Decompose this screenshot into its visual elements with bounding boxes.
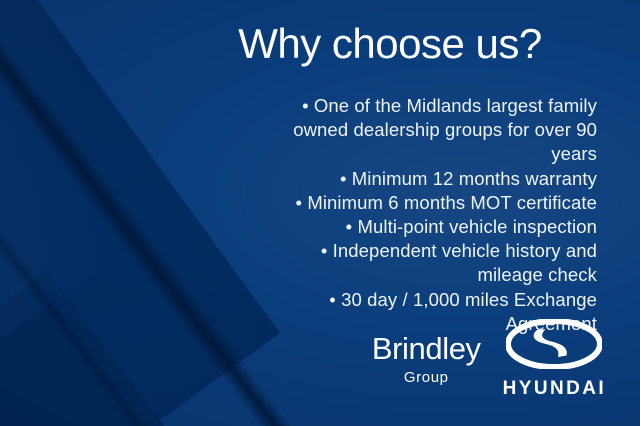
list-item: • Minimum 6 months MOT certificate <box>257 191 597 215</box>
brindley-group-logo: Brindley Group <box>372 333 481 385</box>
list-item: mileage check <box>257 263 597 287</box>
hyundai-wordmark: HYUNDAI <box>503 379 606 398</box>
list-item: • Minimum 12 months warranty <box>257 167 597 191</box>
benefits-list: • One of the Midlands largest family own… <box>257 94 597 336</box>
page-title: Why choose us? <box>180 20 600 68</box>
list-item: • Independent vehicle history and <box>257 239 597 263</box>
list-item: owned dealership groups for over 90 year… <box>257 118 597 166</box>
hyundai-logo: HYUNDAI <box>503 319 606 398</box>
logo-row: Brindley Group <box>372 319 606 398</box>
promo-slide: Why choose us? • One of the Midlands lar… <box>0 0 640 426</box>
brindley-wordmark: Brindley <box>372 333 481 364</box>
list-item: • Multi-point vehicle inspection <box>257 215 597 239</box>
slide-content: Why choose us? • One of the Midlands lar… <box>0 0 640 426</box>
list-item: • One of the Midlands largest family <box>257 94 597 118</box>
list-item: • 30 day / 1,000 miles Exchange <box>257 288 597 312</box>
hyundai-oval-h-icon <box>506 319 602 374</box>
brindley-subtitle: Group <box>372 370 481 385</box>
